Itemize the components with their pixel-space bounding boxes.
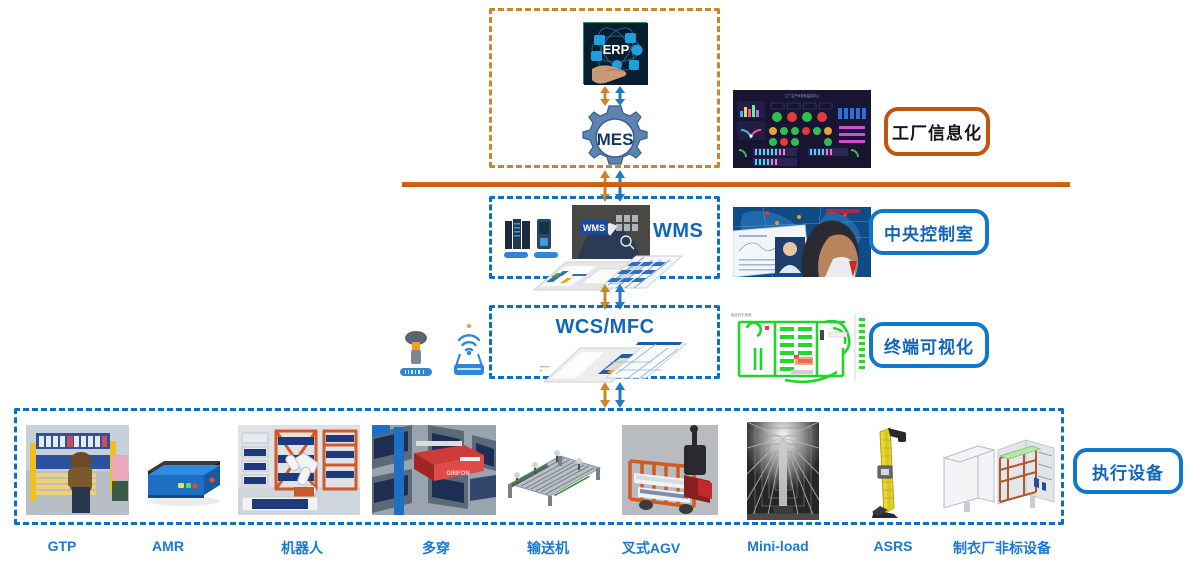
layer-label-text: 中央控制室: [884, 220, 974, 245]
erp-icon: ERP: [583, 22, 647, 84]
caption-amr: AMR: [152, 538, 184, 554]
equipment-image-asrs: [864, 426, 924, 518]
layer-label-central-control-room[interactable]: 中央控制室: [869, 209, 989, 255]
layer-label-text: 执行设备: [1092, 459, 1164, 484]
arrows-wcs-equipment: [596, 382, 634, 408]
equipment-image-robot: [238, 425, 360, 515]
caption-custom: 制衣厂非标设备: [953, 538, 1051, 558]
caption-multi-shuttle: 多穿: [422, 538, 450, 558]
equipment-image-multi-shuttle: GINFON: [372, 425, 496, 515]
layer-label-factory-informatization[interactable]: 工厂信息化: [884, 107, 990, 156]
equipment-image-conveyor: [504, 440, 604, 508]
layer-label-text: 工厂信息化: [892, 119, 982, 144]
caption-robot: 机器人: [281, 538, 323, 558]
equipment-image-forklift-agv: [622, 425, 718, 515]
wifi-router-icon: [448, 322, 490, 378]
svg-text:GINFON: GINFON: [446, 471, 469, 477]
caption-gtp: GTP: [48, 538, 77, 554]
svg-text:WMS: WMS: [583, 223, 605, 233]
wcs-title: WCS/MFC: [545, 316, 665, 339]
layout-schematic-image: 输送线平面图: [725, 308, 870, 386]
wms-title: WMS: [653, 220, 703, 243]
svg-text:ERP: ERP: [603, 42, 630, 57]
svg-text:工厂生产可视化监控中心: 工厂生产可视化监控中心: [784, 93, 820, 98]
diagram-canvas: ERP ERP MES MES: [0, 0, 1200, 569]
layer-label-terminal-visualization[interactable]: 终端可视化: [869, 322, 989, 368]
layer-label-text: 终端可视化: [884, 333, 974, 358]
equipment-image-custom: [938, 432, 1058, 516]
caption-mini-load: Mini-load: [747, 538, 808, 554]
layer-label-execution-equipment[interactable]: 执行设备: [1073, 448, 1183, 494]
svg-text:MES: MES: [597, 130, 634, 149]
arrows-erp-mes: [596, 86, 634, 106]
control-room-image: [733, 207, 871, 277]
caption-conveyor: 输送机: [527, 538, 569, 558]
scada-dashboard-image: 工厂生产可视化监控中心: [733, 90, 871, 168]
svg-text:输送线平面图: 输送线平面图: [731, 312, 752, 317]
equipment-image-gtp: [26, 425, 129, 515]
layer-separator: [402, 182, 1070, 187]
caption-asrs: ASRS: [874, 538, 913, 554]
equipment-image-mini-load: [747, 422, 819, 520]
scanner-icon: [396, 326, 436, 378]
equipment-image-amr: [140, 455, 228, 507]
mes-icon: MES: [578, 104, 652, 172]
caption-forklift-agv: 叉式AGV: [622, 538, 680, 558]
